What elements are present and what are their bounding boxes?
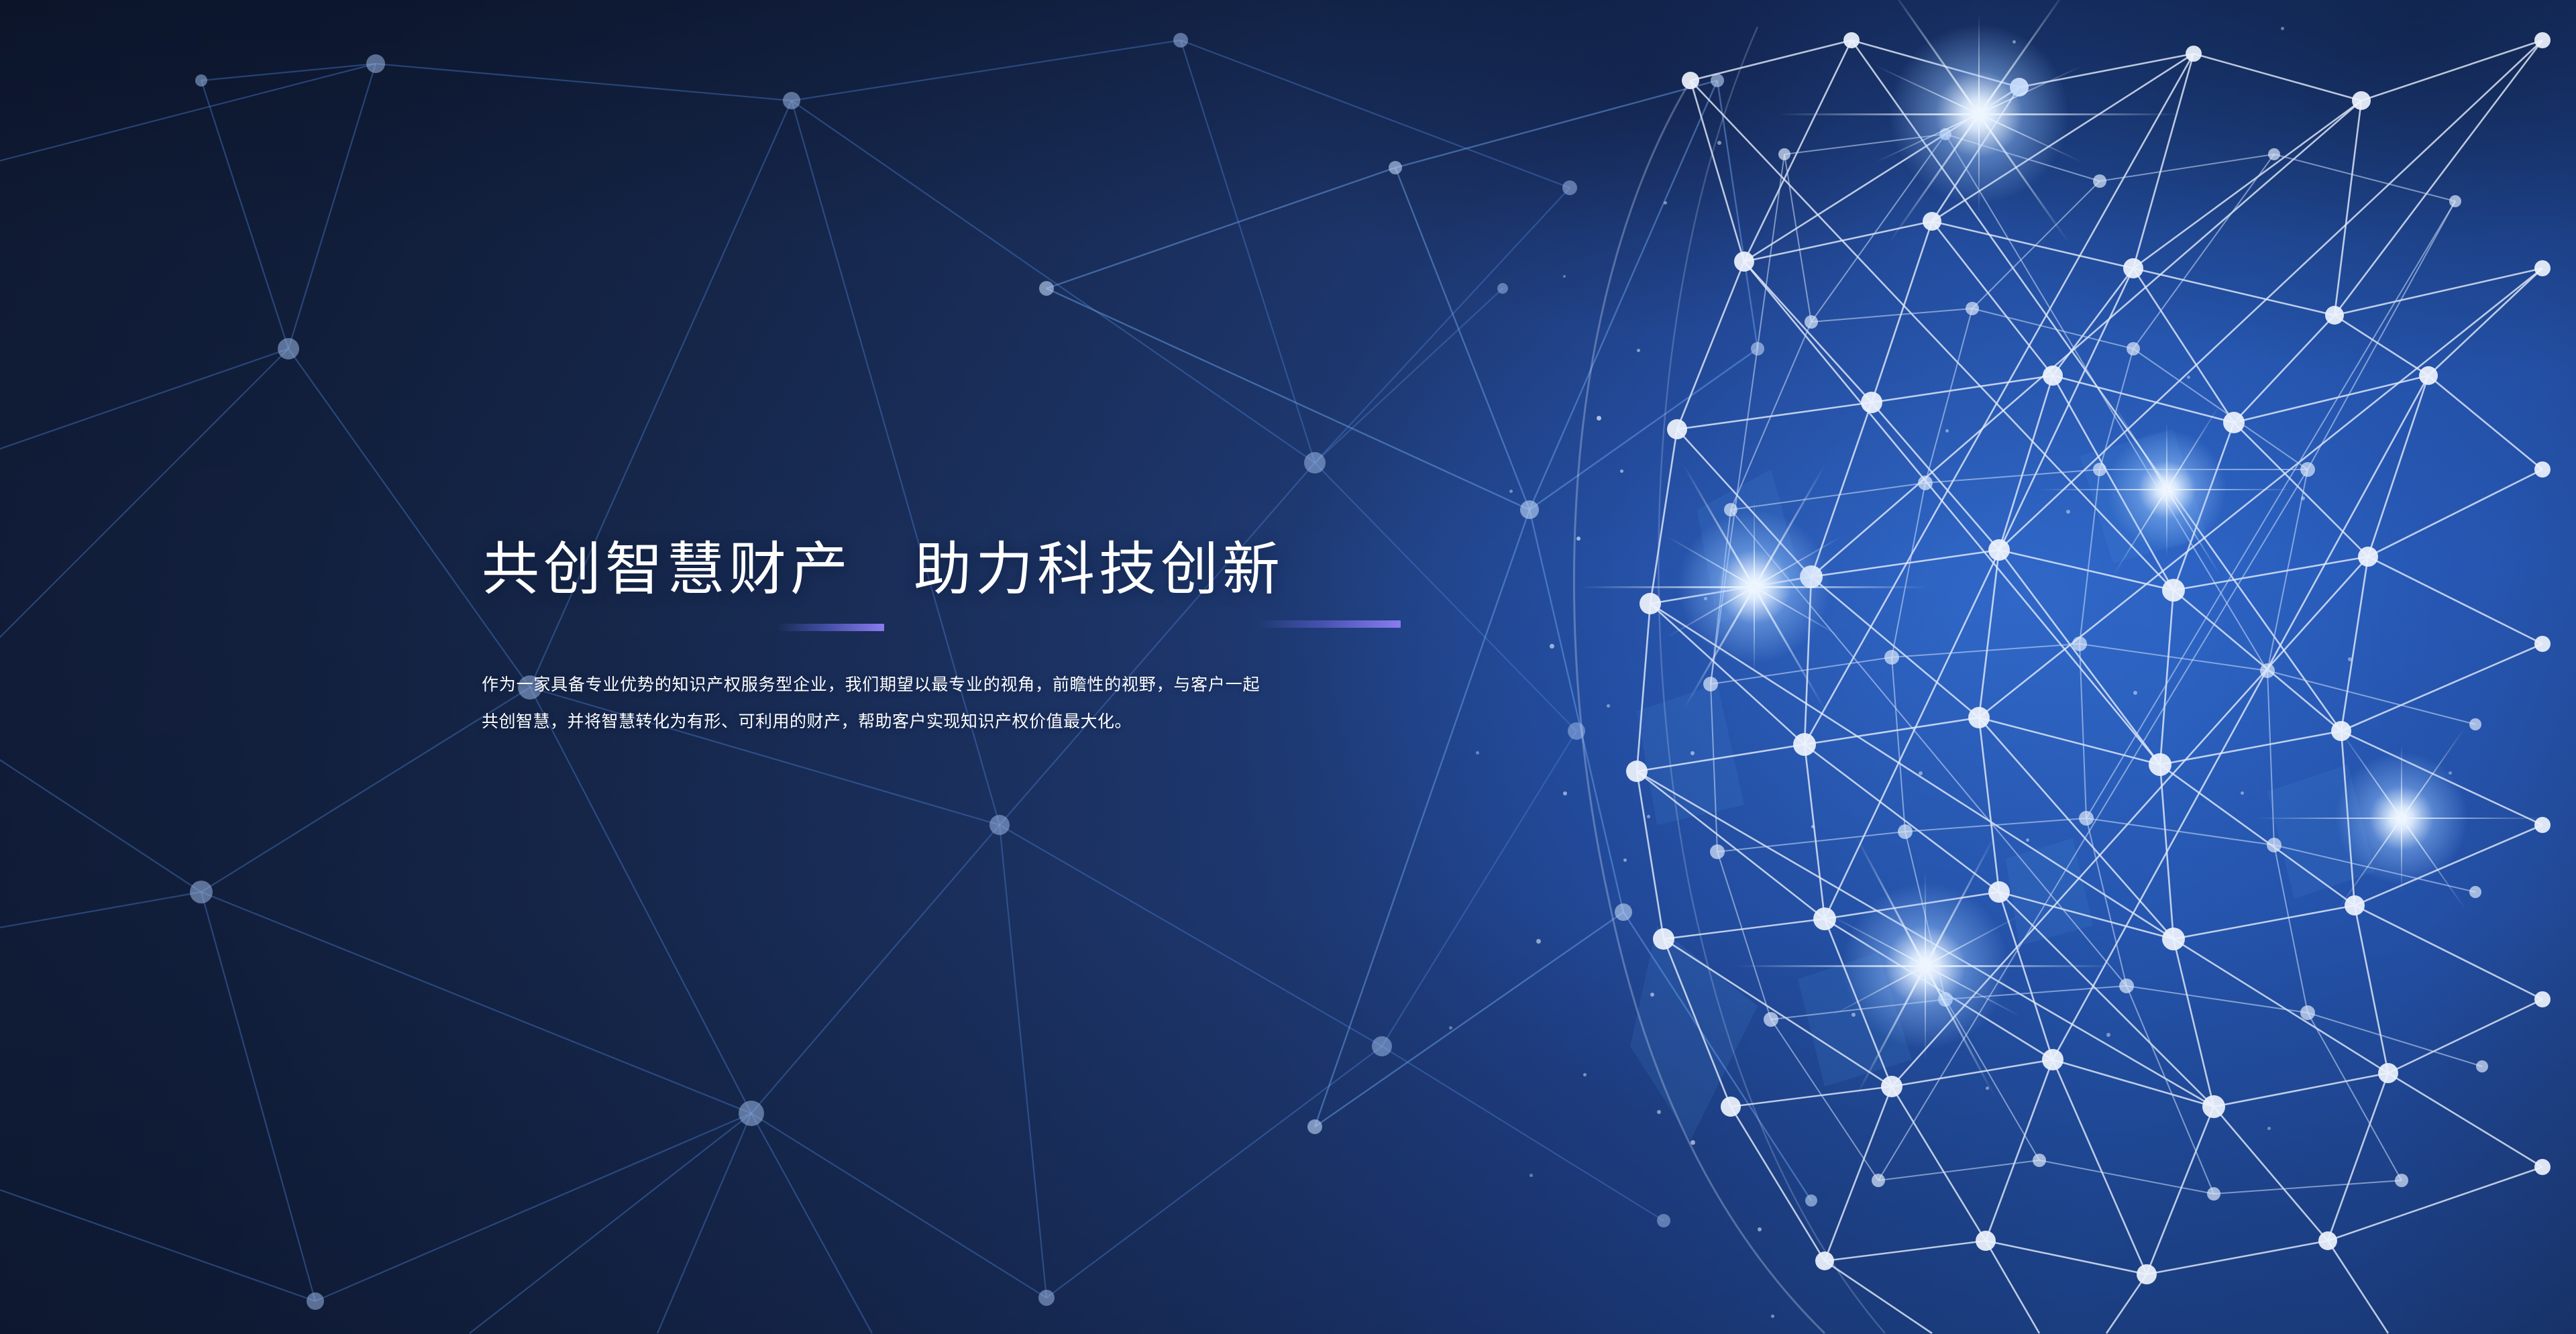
headline-underline-chuangxin <box>1256 620 1401 628</box>
hero-headline: 共创智慧财产 助力科技创新 <box>482 541 1528 598</box>
hero-banner: 共创智慧财产 助力科技创新 作为一家具备专业优势的知识产权服务型企业，我们期望以… <box>0 0 2576 1334</box>
headline-underline-caichan <box>777 624 884 631</box>
hero-content: 共创智慧财产 助力科技创新 作为一家具备专业优势的知识产权服务型企业，我们期望以… <box>482 541 1528 740</box>
hero-paragraph: 作为一家具备专业优势的知识产权服务型企业，我们期望以最专业的视角，前瞻性的视野，… <box>482 667 1260 740</box>
